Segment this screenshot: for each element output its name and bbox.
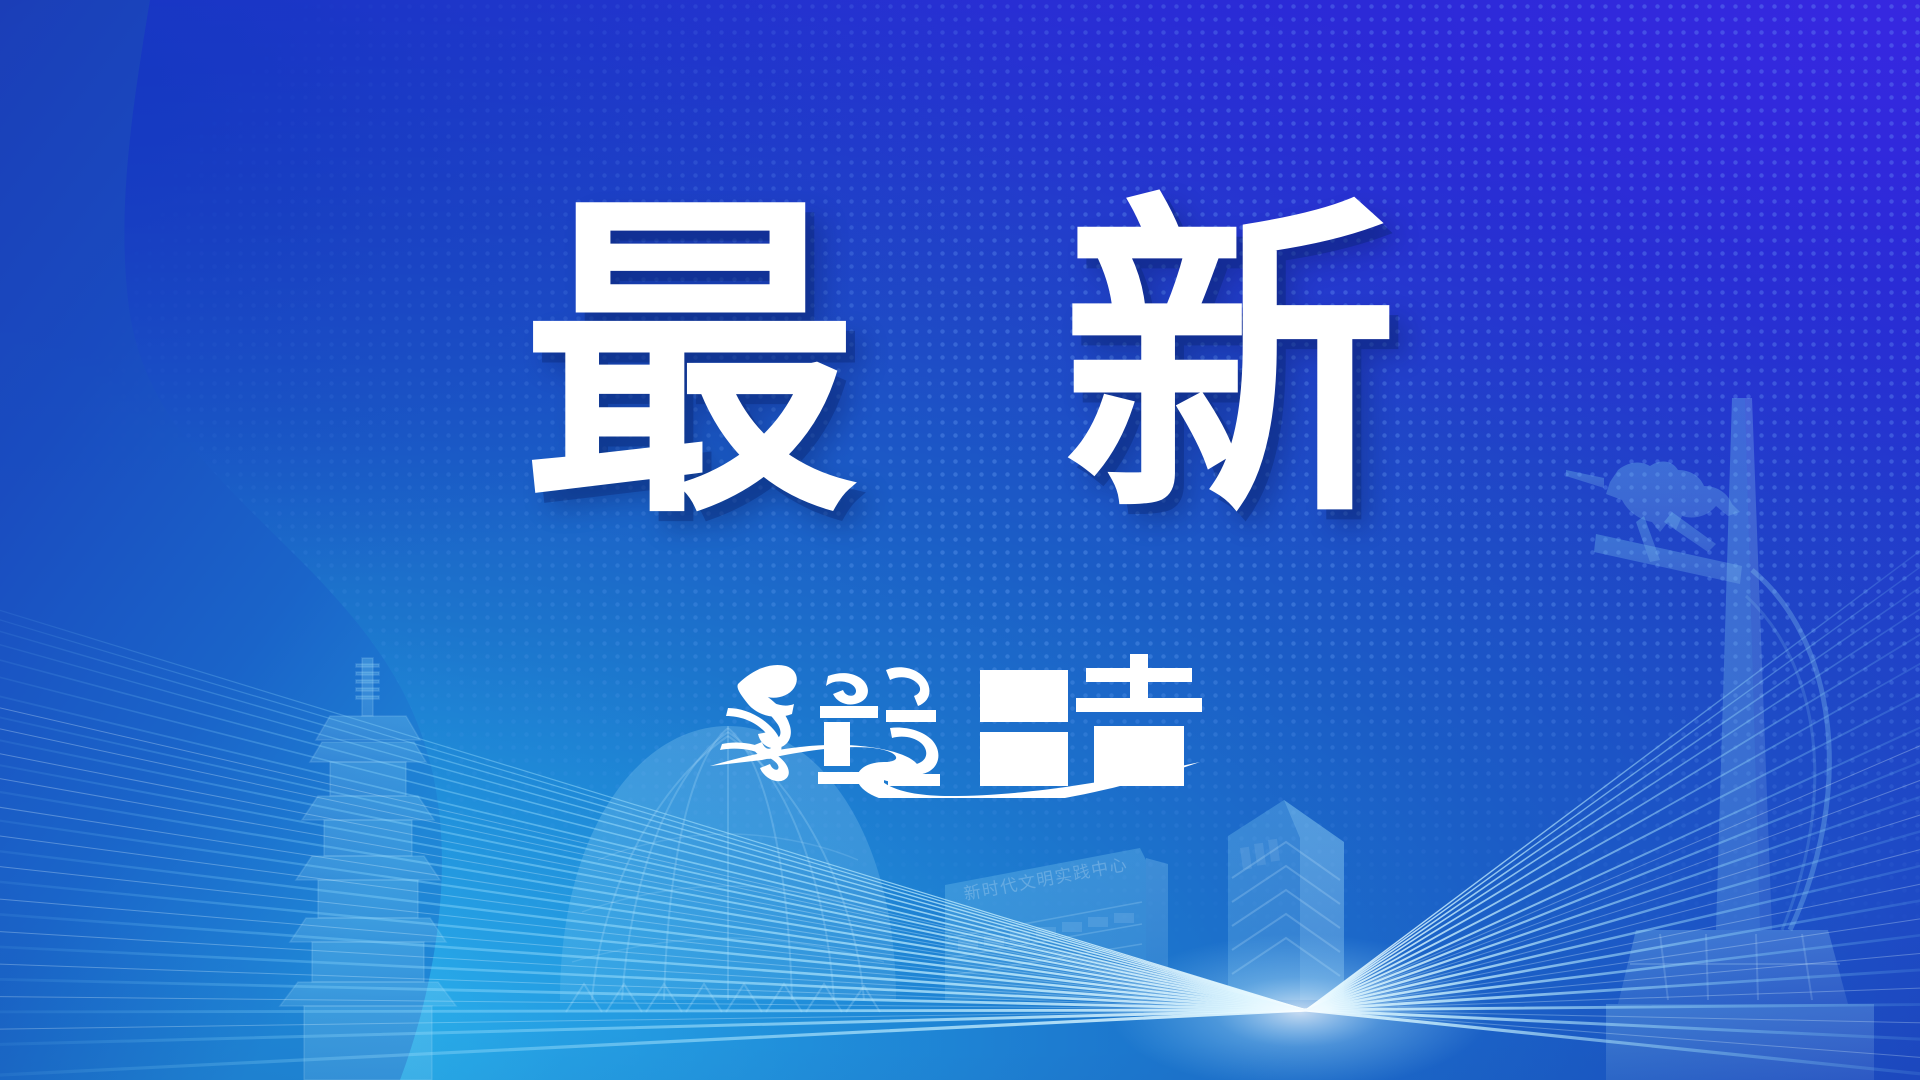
logo-glyph-chang — [980, 670, 1068, 786]
logo-glyph-si — [720, 665, 797, 781]
office-tower-silhouette — [1228, 800, 1344, 1000]
page-title: 最 新 — [0, 196, 1920, 532]
banner-canvas: 新时代文明实践中心 — [0, 0, 1920, 1080]
civilization-center-building: 新时代文明实践中心 — [945, 848, 1168, 1000]
logo-lockup: 丝路昌吉 — [700, 648, 1220, 798]
pagoda-silhouette — [280, 658, 456, 1080]
